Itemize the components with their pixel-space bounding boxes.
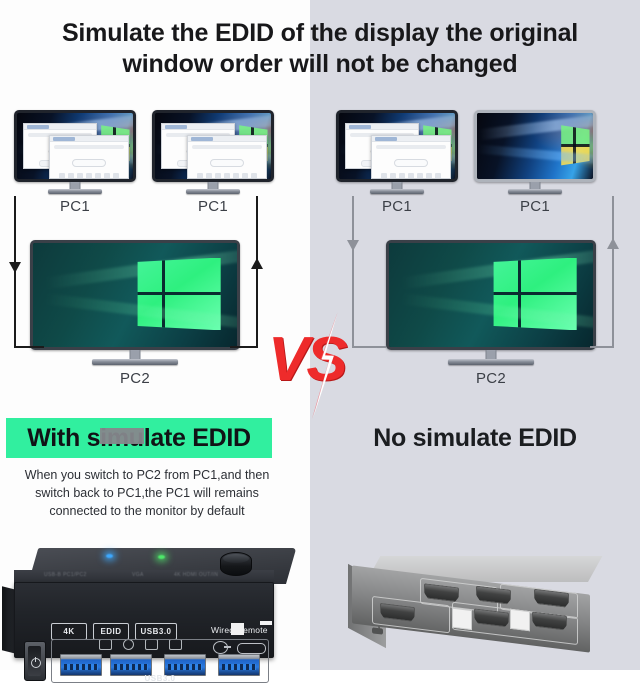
left-wire-up xyxy=(256,196,258,348)
monitor-label: PC2 xyxy=(30,370,240,387)
right-monitor-pc1-b: PC1 xyxy=(474,110,596,182)
page-title: Simulate the EDID of the display the ori… xyxy=(0,18,640,80)
right-wire-up xyxy=(612,196,614,348)
monitor-frame xyxy=(474,110,596,182)
left-monitor-pc1-b: Google PC1 xyxy=(152,110,274,182)
kvm-switch-front-photo: USB-B PC1/PC2 VGA 4K HDMI OUT/IN 4K EDID… xyxy=(14,548,286,660)
browser-window-front xyxy=(49,135,129,179)
wallpaper-windows-blue xyxy=(477,113,593,179)
power-icon xyxy=(31,658,41,668)
monitor-frame: Google xyxy=(152,110,274,182)
no-edid-banner-label: No simulate EDID xyxy=(373,424,577,453)
left-arrowhead-down xyxy=(9,262,21,273)
monitor-base xyxy=(370,189,424,194)
usb-row-label: USB3.0 xyxy=(52,674,268,683)
monitor-base xyxy=(448,359,534,365)
title-line-1: Simulate the EDID of the display the ori… xyxy=(62,19,578,47)
monitor-neck xyxy=(208,182,219,189)
wallpaper-windows-green xyxy=(33,243,237,347)
usb-port-2 xyxy=(110,654,152,676)
usb-port-group: USB3.0 xyxy=(51,639,269,683)
infographic-canvas: Simulate the EDID of the display the ori… xyxy=(0,0,640,670)
monitor-neck xyxy=(70,182,81,189)
monitor-frame xyxy=(386,240,596,350)
monitor-label: PC1 xyxy=(336,198,458,215)
remote-label-smudge-artifact xyxy=(231,623,244,635)
monitor-label: PC1 xyxy=(14,198,136,215)
status-led-blue xyxy=(106,554,113,558)
versus-label: VS xyxy=(268,324,374,395)
left-arrowhead-up xyxy=(251,258,263,269)
browser-window-front xyxy=(371,135,451,179)
left-monitor-pc2: PC2 xyxy=(30,240,240,350)
monitor-neck xyxy=(130,350,141,359)
monitor-screen xyxy=(389,243,593,347)
monitor-screen xyxy=(33,243,237,347)
monitor-screen: Google xyxy=(155,113,271,179)
monitor-screen: Google xyxy=(339,113,455,179)
usb-port-1 xyxy=(60,654,102,676)
monitor-label: PC1 xyxy=(474,198,596,215)
left-wire-bottom xyxy=(14,346,44,348)
rear-small-port xyxy=(372,627,383,634)
silkscreen-vga: VGA xyxy=(132,572,144,579)
monitor-base xyxy=(92,359,178,365)
badge-usb30: USB3.0 xyxy=(135,623,177,640)
monitor-base xyxy=(48,189,102,194)
title-line-2: window order will not be changed xyxy=(22,49,618,80)
monitor-screen: Google xyxy=(17,113,133,179)
right-monitor-pc2: PC2 xyxy=(386,240,596,350)
right-monitor-pc1-a: Google PC1 xyxy=(336,110,458,182)
monitor-neck xyxy=(530,182,541,189)
kvm-front-panel: 4K EDID USB3.0 Wired Remote USB3.0 xyxy=(14,582,274,658)
monitor-frame: Google xyxy=(14,110,136,182)
left-monitor-pc1-a: Google PC1 xyxy=(14,110,136,182)
status-led-green xyxy=(158,555,165,559)
remote-label-smudge-artifact-2 xyxy=(260,621,272,625)
monitor-neck xyxy=(486,350,497,359)
silkscreen-hdmi: 4K HDMI OUT/IN xyxy=(174,572,218,579)
kvm-switch-rear-photo xyxy=(348,556,606,660)
monitor-neck xyxy=(392,182,403,189)
rear-label-2 xyxy=(510,609,530,631)
monitor-frame: Google xyxy=(336,110,458,182)
silkscreen-usb-b: USB-B PC1/PC2 xyxy=(44,572,87,579)
versus-badge: VS xyxy=(268,318,374,408)
power-switch[interactable] xyxy=(24,641,46,681)
wallpaper-windows-green xyxy=(389,243,593,347)
monitor-screen xyxy=(477,113,593,179)
usb-port-3 xyxy=(164,654,206,676)
badge-4k: 4K xyxy=(51,623,87,640)
badge-edid: EDID xyxy=(93,623,129,640)
right-arrowhead-up xyxy=(607,238,619,249)
right-arrowhead-down xyxy=(347,240,359,251)
left-wire-bottom-right xyxy=(230,346,258,348)
banner-smudge-artifact xyxy=(100,428,144,444)
monitor-base xyxy=(508,189,562,194)
selector-knob xyxy=(220,552,252,576)
monitor-label: PC2 xyxy=(386,370,596,387)
with-edid-caption: When you switch to PC2 from PC1,and then… xyxy=(6,466,288,520)
browser-window-front xyxy=(187,135,267,179)
rear-label-1 xyxy=(452,608,472,630)
monitor-frame xyxy=(30,240,240,350)
monitor-base xyxy=(186,189,240,194)
usb-port-4 xyxy=(218,654,260,676)
right-wire-bottom-right xyxy=(590,346,614,348)
no-edid-banner: No simulate EDID xyxy=(330,418,620,458)
